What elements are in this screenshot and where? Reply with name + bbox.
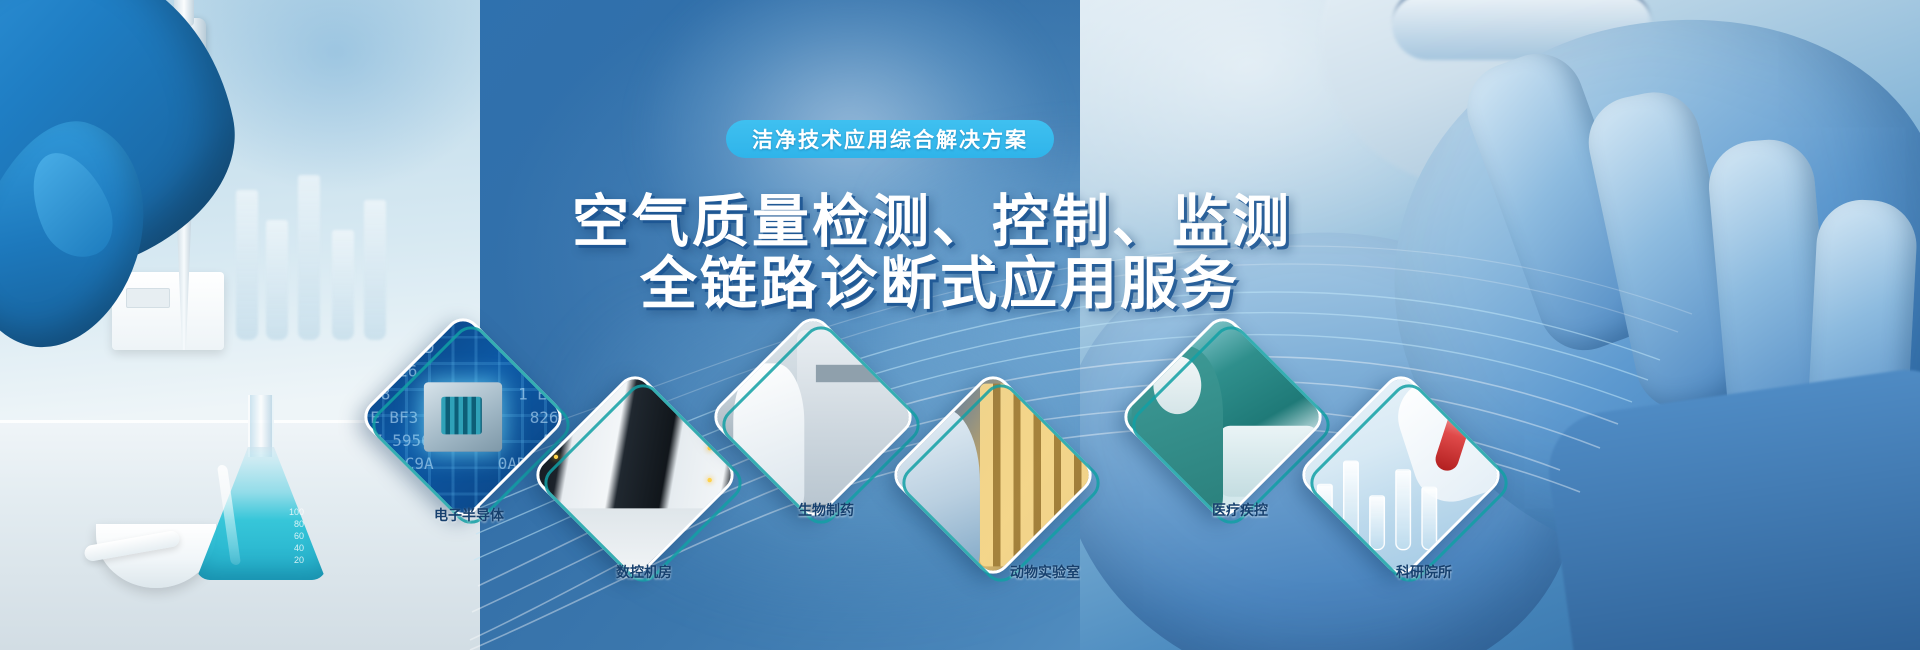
card-label-animal-laboratory: 动物实验室	[1010, 562, 1080, 582]
card-label-biopharmaceutical: 生物制药	[798, 500, 854, 520]
card-label-medical-disease-control: 医疗疾控	[1212, 500, 1268, 520]
hero-banner: 10080604020	[0, 0, 1920, 650]
card-1-teal-accent	[365, 319, 577, 531]
industry-card-row: E2? F D 5926 7 8 E BF3 7 5956 B8 C9A 1 E…	[0, 0, 1920, 650]
card-label-data-center: 数控机房	[616, 562, 672, 582]
card-4-teal-accent	[895, 377, 1107, 589]
card-label-research-institute: 科研院所	[1396, 562, 1452, 582]
card-6-teal-accent	[1303, 377, 1515, 589]
card-label-electronics-semiconductor: 电子半导体	[434, 505, 504, 525]
